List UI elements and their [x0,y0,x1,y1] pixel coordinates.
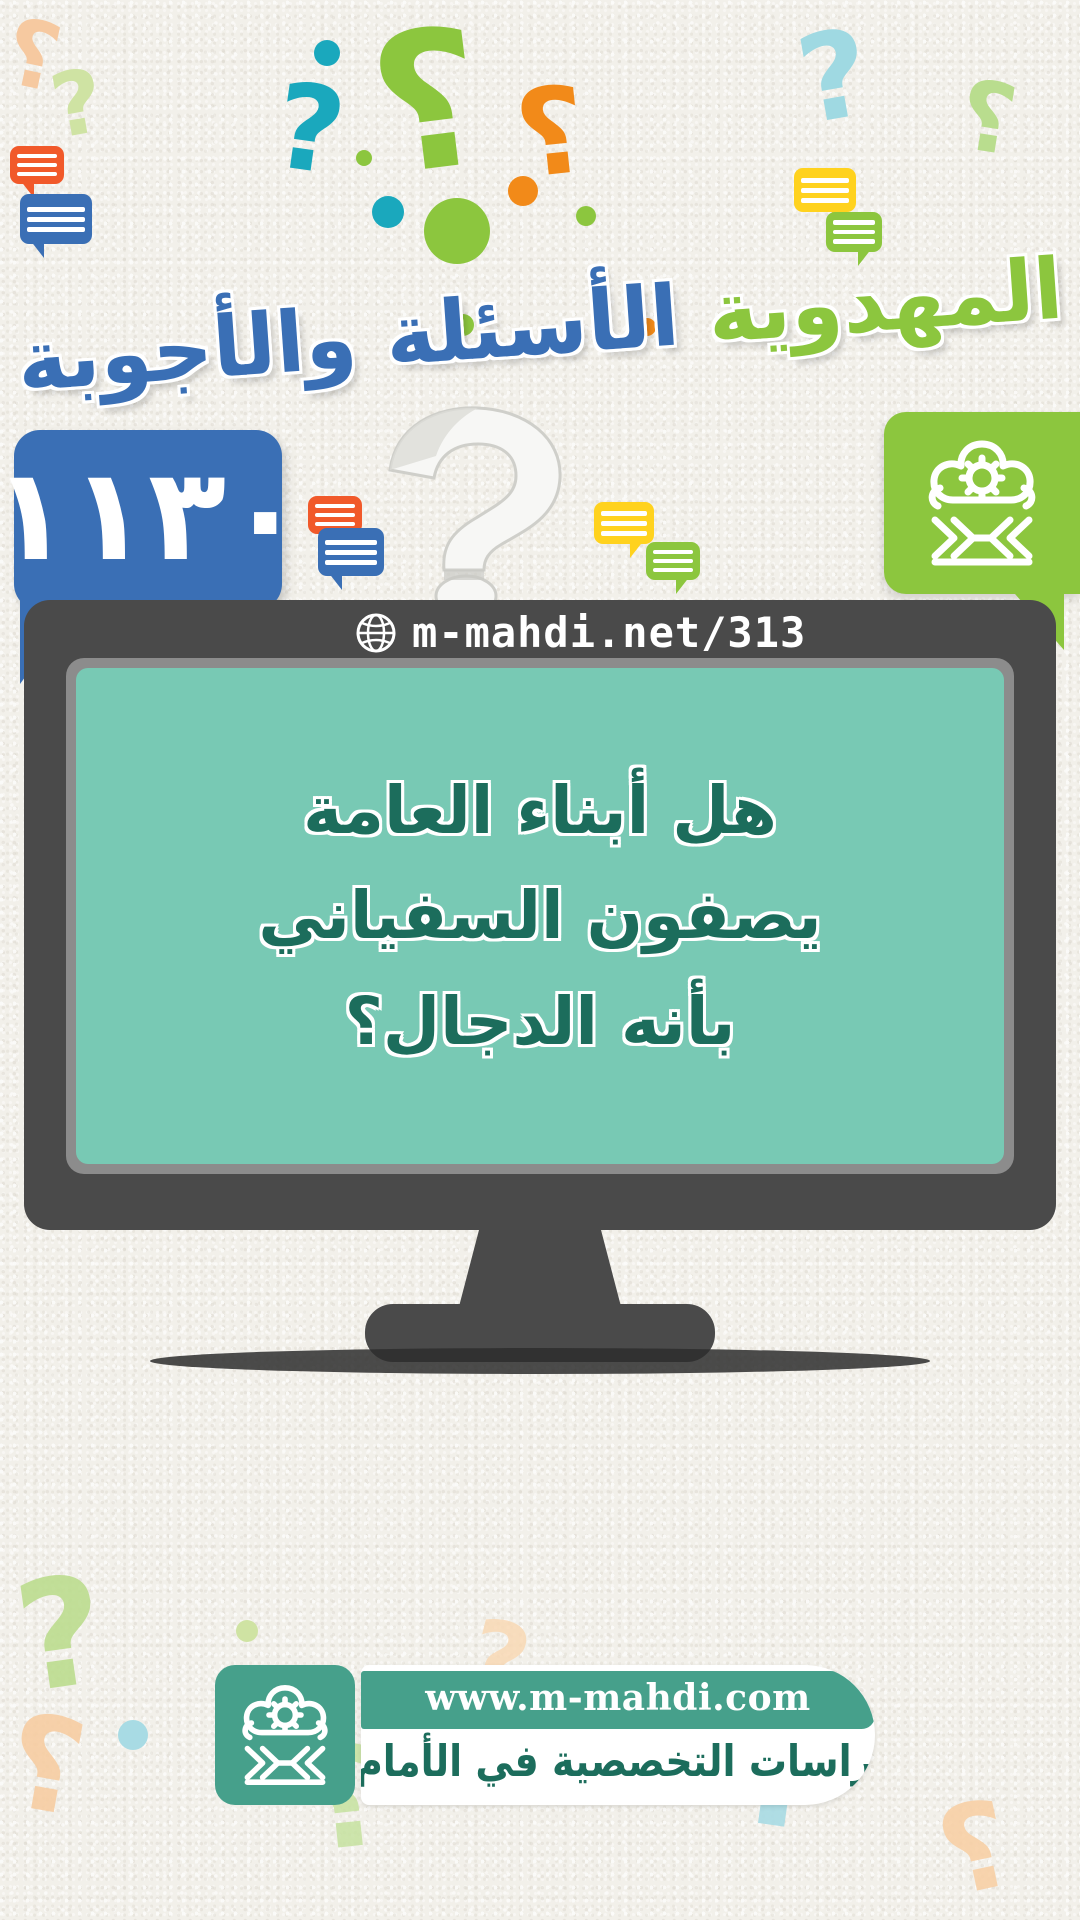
question-number: ١١٣٠ [0,452,304,580]
chat-bubble-icon [10,146,64,184]
globe-icon [354,611,398,655]
monitor-screen: هل أبناء العامة يصفون السفياني بأنه الدج… [76,668,1004,1164]
decor-qmark-bottom-left-orange-icon: ؟ [0,1694,94,1835]
hero-question-mark-icon [366,398,596,618]
footer: www.m-mahdi.com مركز الدراسات التخصصية ف… [215,1665,875,1805]
chat-bubble-icon [646,542,700,580]
decor-dot-orange [508,176,538,206]
footer-organization-name: مركز الدراسات التخصصية في الأمام المهدي [361,1736,875,1787]
decor-qmark-main-green-icon: ؟ [361,2,494,204]
url-bar[interactable]: m-mahdi.net/313 [354,608,806,657]
monitor-shadow [150,1348,930,1374]
footer-website[interactable]: www.m-mahdi.com [361,1671,875,1729]
chat-bubble-icon [794,168,856,212]
decor-dot-green [576,206,596,226]
url-text: m-mahdi.net/313 [412,608,806,657]
decor-dot-green [236,1620,258,1642]
page-title: المهدوية الأسئلة والأجوبة [0,238,1080,411]
decor-dot-teal [372,196,404,228]
decor-qmark-teal-icon: ؟ [268,66,352,192]
chat-bubble-icon [20,194,92,244]
poster-root: ؟ ؟ ؟ ؟ ؟ ؟ ؟ ؟ ؟ ؟ ؟ ؟ ؟ المهدوية الأسئ… [0,0,1080,1920]
question-number-badge: ١١٣٠ [14,430,282,610]
page-title-blue-part: الأسئلة والأجوبة [14,266,682,410]
decor-dot-teal [118,1720,148,1750]
decor-qmark-bottom-right-orange-icon: ؟ [928,1784,1021,1916]
decor-dot-green [356,150,372,166]
question-line-3: بأنه الدجال؟ [345,986,736,1057]
chat-bubble-icon [594,502,654,544]
decor-dot-teal [314,40,340,66]
page-title-green-part: المهدوية [705,240,1066,363]
mahdi-center-emblem-icon [907,428,1057,578]
footer-info-panel: www.m-mahdi.com مركز الدراسات التخصصية ف… [361,1665,875,1805]
decor-dot-green [424,198,490,264]
footer-brand-mark [215,1665,355,1805]
question-line-1: هل أبناء العامة [303,775,777,846]
chat-bubble-icon [826,212,882,252]
mahdi-center-emblem-icon [225,1675,345,1795]
monitor-frame: m-mahdi.net/313 هل أبناء العامة يصفون ال… [24,600,1056,1230]
decor-qmark-top-left-green-icon: ؟ [45,56,111,152]
monitor-bezel-inner: هل أبناء العامة يصفون السفياني بأنه الدج… [66,658,1014,1174]
brand-emblem-badge [884,412,1080,594]
question-line-2: يصفون السفياني [258,880,821,951]
decor-qmark-top-right-teal-icon: ؟ [790,13,879,143]
decor-qmark-top-right-green-icon: ؟ [953,66,1023,170]
